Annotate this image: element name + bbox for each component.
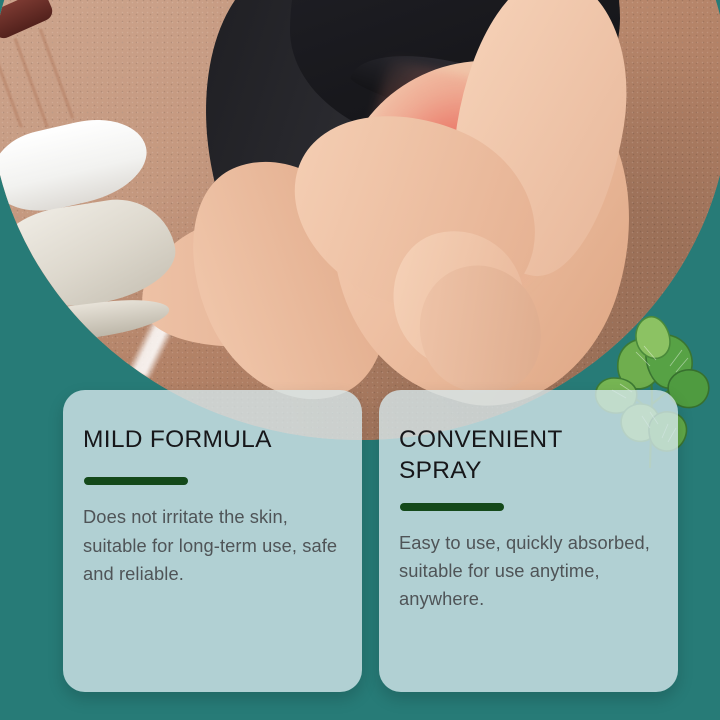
feature-card-title: CONVENIENT SPRAY xyxy=(399,424,656,487)
feature-card-mild-formula: MILD FORMULA Does not irritate the skin,… xyxy=(63,390,362,692)
product-feature-poster: MILD FORMULA Does not irritate the skin,… xyxy=(0,0,720,720)
title-divider xyxy=(400,503,504,511)
feature-card-body: Does not irritate the skin, suitable for… xyxy=(83,503,340,588)
title-divider xyxy=(84,477,188,485)
feature-card-body: Easy to use, quickly absorbed, suitable … xyxy=(399,529,656,614)
feature-card-list: MILD FORMULA Does not irritate the skin,… xyxy=(63,390,678,692)
feature-card-title: MILD FORMULA xyxy=(83,424,340,455)
feature-card-convenient-spray: CONVENIENT SPRAY Easy to use, quickly ab… xyxy=(379,390,678,692)
